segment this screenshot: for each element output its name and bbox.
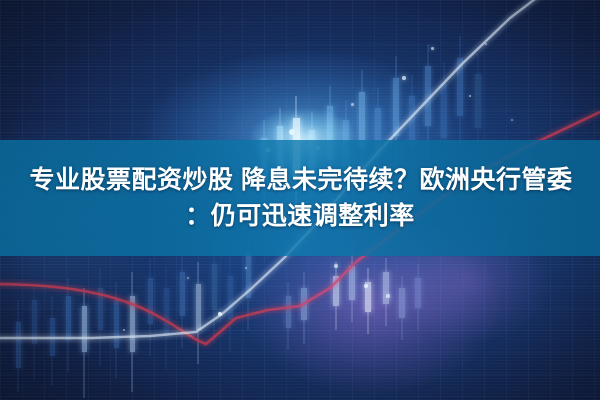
headline-banner: 专业股票配资炒股 降息未完待续？欧洲央行管委 ：仍可迅速调整利率 — [0, 140, 600, 256]
thumbnail-image: 专业股票配资炒股 降息未完待续？欧洲央行管委 ：仍可迅速调整利率 — [0, 0, 600, 400]
headline-line-2: ：仍可迅速调整利率 — [185, 198, 415, 234]
headline-line-1: 专业股票配资炒股 降息未完待续？欧洲央行管委 — [28, 162, 573, 198]
